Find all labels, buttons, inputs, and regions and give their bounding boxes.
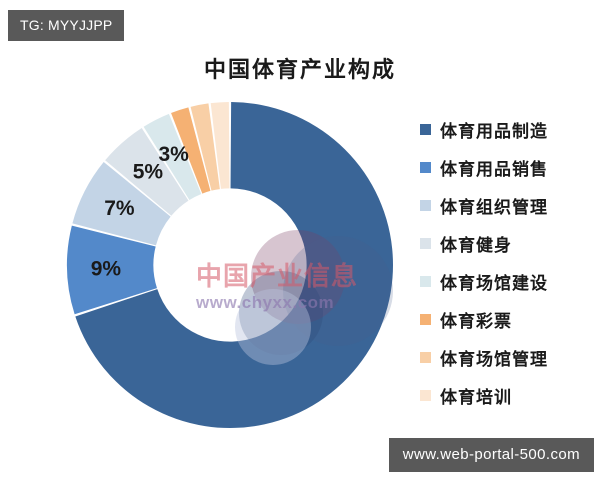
chart-legend: 体育用品制造体育用品销售体育组织管理体育健身体育场馆建设体育彩票体育场馆管理体育… <box>420 110 595 414</box>
legend-swatch-icon <box>420 314 431 325</box>
legend-item-label: 体育彩票 <box>440 307 512 332</box>
legend-swatch-icon <box>420 390 431 401</box>
legend-item[interactable]: 体育用品制造 <box>420 110 595 148</box>
legend-item-label: 体育场馆建设 <box>440 269 548 294</box>
legend-item-label: 体育用品制造 <box>440 117 548 142</box>
legend-item[interactable]: 体育用品销售 <box>420 148 595 186</box>
legend-swatch-icon <box>420 238 431 249</box>
tg-watermark-badge: TG: MYYJJPP <box>8 10 124 41</box>
chart-title: 中国体育产业构成 <box>0 52 600 84</box>
legend-swatch-icon <box>420 200 431 211</box>
donut-chart: 70%9%7%5%3% <box>55 95 405 435</box>
legend-item-label: 体育用品销售 <box>440 155 548 180</box>
legend-item-label: 体育组织管理 <box>440 193 548 218</box>
legend-item[interactable]: 体育培训 <box>420 376 595 414</box>
decor-circle-4 <box>235 289 311 365</box>
legend-item[interactable]: 体育健身 <box>420 224 595 262</box>
legend-swatch-icon <box>420 162 431 173</box>
slice-value-label: 70% <box>368 386 405 409</box>
donut-chart-svg: 70%9%7%5%3% <box>55 95 405 435</box>
legend-swatch-icon <box>420 352 431 363</box>
legend-item[interactable]: 体育场馆建设 <box>420 262 595 300</box>
slice-value-label: 9% <box>91 257 122 280</box>
legend-item-label: 体育培训 <box>440 383 512 408</box>
slice-value-label: 7% <box>104 197 135 220</box>
legend-swatch-icon <box>420 124 431 135</box>
legend-swatch-icon <box>420 276 431 287</box>
legend-item[interactable]: 体育组织管理 <box>420 186 595 224</box>
portal-url-badge: www.web-portal-500.com <box>389 438 594 472</box>
legend-item-label: 体育健身 <box>440 231 512 256</box>
legend-item[interactable]: 体育彩票 <box>420 300 595 338</box>
legend-item[interactable]: 体育场馆管理 <box>420 338 595 376</box>
legend-item-label: 体育场馆管理 <box>440 345 548 370</box>
slice-value-label: 3% <box>158 143 189 166</box>
